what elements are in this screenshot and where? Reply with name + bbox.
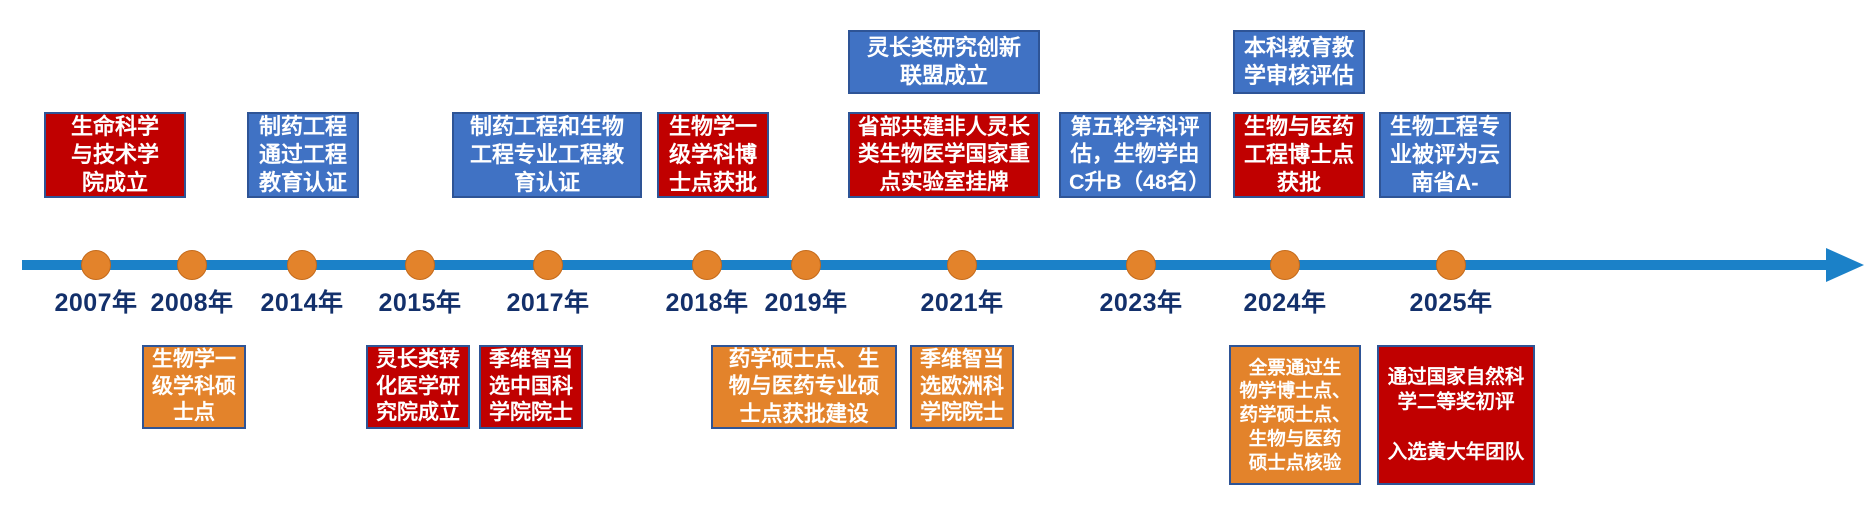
year-label-2014: 2014年 bbox=[260, 283, 343, 319]
timeline-node-2025[interactable] bbox=[1436, 250, 1466, 280]
timeline-node-2018[interactable] bbox=[692, 250, 722, 280]
event-card-above-8[interactable]: 生物与医药 工程博士点 获批 bbox=[1233, 112, 1365, 198]
event-card-below-1[interactable]: 灵长类转 化医学研 究院成立 bbox=[366, 345, 470, 429]
year-label-2023: 2023年 bbox=[1099, 283, 1182, 319]
year-label-2019: 2019年 bbox=[764, 283, 847, 319]
event-card-below-4[interactable]: 季维智当 选欧洲科 学院院士 bbox=[910, 345, 1014, 429]
event-card-above-0[interactable]: 生命科学 与技术学 院成立 bbox=[44, 112, 186, 198]
timeline-node-2021[interactable] bbox=[947, 250, 977, 280]
event-card-above-1[interactable]: 制药工程 通过工程 教育认证 bbox=[247, 112, 359, 198]
event-card-above-2[interactable]: 制药工程和生物 工程专业工程教 育认证 bbox=[452, 112, 642, 198]
timeline-node-2017[interactable] bbox=[533, 250, 563, 280]
event-card-below-3[interactable]: 药学硕士点、生 物与医药专业硕 士点获批建设 bbox=[711, 345, 897, 429]
year-label-2008: 2008年 bbox=[150, 283, 233, 319]
year-label-2018: 2018年 bbox=[665, 283, 748, 319]
year-label-2007: 2007年 bbox=[54, 283, 137, 319]
event-card-above-6[interactable]: 第五轮学科评 估，生物学由 C升B（48名） bbox=[1059, 112, 1211, 198]
event-card-above-4[interactable]: 灵长类研究创新 联盟成立 bbox=[848, 30, 1040, 94]
timeline-arrow-icon bbox=[1826, 248, 1864, 282]
year-label-2021: 2021年 bbox=[920, 283, 1003, 319]
timeline-node-2015[interactable] bbox=[405, 250, 435, 280]
timeline-node-2019[interactable] bbox=[791, 250, 821, 280]
timeline-infographic: 2007年2008年2014年2015年2017年2018年2019年2021年… bbox=[0, 0, 1872, 520]
timeline-node-2023[interactable] bbox=[1126, 250, 1156, 280]
event-card-above-7[interactable]: 本科教育教 学审核评估 bbox=[1233, 30, 1365, 94]
year-label-2017: 2017年 bbox=[506, 283, 589, 319]
event-card-above-3[interactable]: 生物学一 级学科博 士点获批 bbox=[657, 112, 769, 198]
timeline-node-2024[interactable] bbox=[1270, 250, 1300, 280]
event-card-below-6[interactable]: 通过国家自然科 学二等奖初评 入选黄大年团队 bbox=[1377, 345, 1535, 485]
year-label-2015: 2015年 bbox=[378, 283, 461, 319]
timeline-node-2007[interactable] bbox=[81, 250, 111, 280]
year-label-2024: 2024年 bbox=[1243, 283, 1326, 319]
year-label-2025: 2025年 bbox=[1409, 283, 1492, 319]
event-card-below-2[interactable]: 季维智当 选中国科 学院院士 bbox=[479, 345, 583, 429]
event-card-above-9[interactable]: 生物工程专 业被评为云 南省A- bbox=[1379, 112, 1511, 198]
timeline-node-2008[interactable] bbox=[177, 250, 207, 280]
event-card-below-5[interactable]: 全票通过生 物学博士点、 药学硕士点、 生物与医药 硕士点核验 bbox=[1229, 345, 1361, 485]
timeline-node-2014[interactable] bbox=[287, 250, 317, 280]
event-card-below-0[interactable]: 生物学一 级学科硕 士点 bbox=[142, 345, 246, 429]
event-card-above-5[interactable]: 省部共建非人灵长 类生物医学国家重 点实验室挂牌 bbox=[848, 112, 1040, 198]
